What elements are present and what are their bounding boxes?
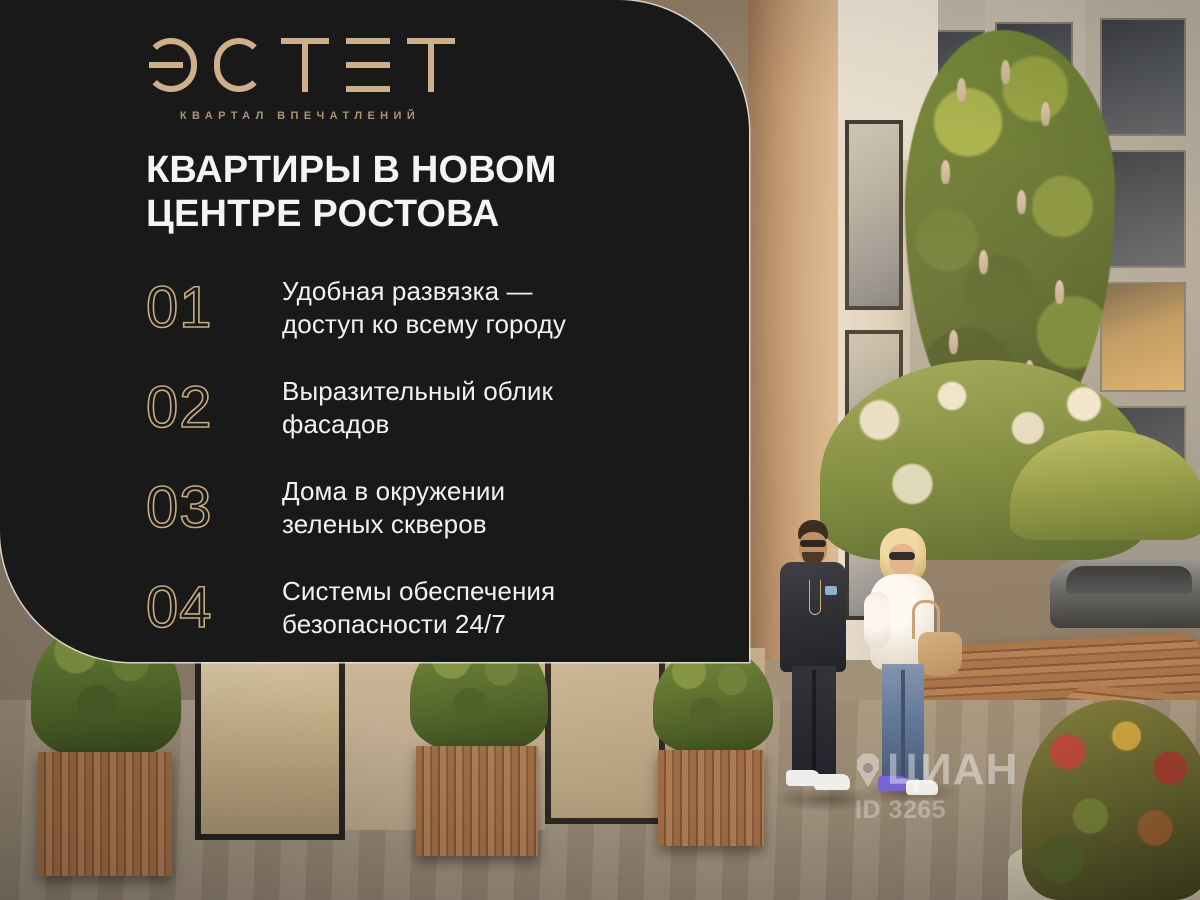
feature-text-line-1: Выразительный облик [282, 375, 553, 408]
woman-sleeve [864, 592, 890, 648]
storefront-glazing [545, 648, 665, 824]
logo-letter-t [281, 38, 329, 92]
window-tall [845, 120, 903, 310]
logo-letter-t-2 [407, 38, 455, 92]
pocket-square [825, 586, 837, 595]
man-jacket [780, 562, 846, 672]
woman-sneaker [906, 780, 938, 795]
planter-box [26, 636, 186, 876]
woman-sneaker [878, 776, 908, 791]
window [1100, 18, 1186, 136]
blossom [1017, 190, 1026, 214]
brand-tagline: КВАРТАЛ ВПЕЧАТЛЕНИЙ [0, 110, 600, 122]
leg-gap [812, 670, 816, 774]
feature-number: 04 [146, 579, 282, 637]
blossom [957, 78, 966, 102]
blossom [949, 330, 958, 354]
feature-text-line-2: фасадов [282, 408, 553, 441]
person-man [778, 520, 850, 806]
topiary-bush [653, 646, 773, 754]
feature-text-line-1: Удобная развязка — [282, 275, 566, 308]
sunglasses-icon [889, 552, 915, 560]
feature-text: Удобная развязка — доступ ко всему город… [282, 275, 566, 342]
logo-letter-e [346, 38, 390, 92]
page-title: КВАРТИРЫ В НОВОМ ЦЕНТРЕ РОСТОВА [146, 148, 706, 237]
handbag [918, 632, 962, 676]
sunglasses-icon [800, 540, 826, 547]
list-item: 04 Системы обеспечения безопасности 24/7 [146, 558, 726, 658]
blossom [1001, 60, 1010, 84]
planter-wood-box [416, 746, 538, 856]
feature-text-line-2: доступ ко всему городу [282, 308, 566, 341]
planter-box [648, 656, 778, 846]
list-item: 03 Дома в окружении зеленых скверов [146, 458, 726, 558]
feature-text-line-1: Системы обеспечения [282, 575, 555, 608]
feature-text: Системы обеспечения безопасности 24/7 [282, 575, 555, 642]
feature-text-line-2: зеленых скверов [282, 508, 505, 541]
planter-wood-box [38, 752, 172, 876]
planter-box [404, 646, 554, 856]
feature-text: Дома в окружении зеленых скверов [282, 475, 505, 542]
storefront-glazing [195, 648, 345, 840]
necklace [809, 580, 821, 615]
blossom [941, 160, 950, 184]
person-woman [866, 528, 942, 808]
headline-line-1: КВАРТИРЫ В НОВОМ [146, 148, 706, 192]
logo-letter-e-reversed [145, 38, 197, 92]
window-lit [1100, 282, 1186, 392]
headline-line-2: ЦЕНТРЕ РОСТОВА [146, 192, 706, 236]
advertisement-banner: ЦИАН ID 3265 [0, 0, 1200, 900]
feature-list: 01 Удобная развязка — доступ ко всему го… [146, 258, 726, 658]
blossom [979, 250, 988, 274]
list-item: 02 Выразительный облик фасадов [146, 358, 726, 458]
man-sneaker [814, 774, 850, 790]
logo-letter-s [214, 38, 264, 92]
planter-wood-box [658, 750, 764, 846]
feature-number: 02 [146, 379, 282, 437]
leg-gap [901, 670, 905, 782]
feature-text-line-1: Дома в окружении [282, 475, 505, 508]
blossom [1041, 102, 1050, 126]
feature-text-line-2: безопасности 24/7 [282, 608, 555, 641]
feature-text: Выразительный облик фасадов [282, 375, 553, 442]
car-window [1066, 566, 1192, 594]
feature-number: 03 [146, 479, 282, 537]
feature-number: 01 [146, 279, 282, 337]
blossom [1055, 280, 1064, 304]
list-item: 01 Удобная развязка — доступ ко всему го… [146, 258, 726, 358]
brand-logo: КВАРТАЛ ВПЕЧАТЛЕНИЙ [0, 36, 600, 122]
info-panel: КВАРТАЛ ВПЕЧАТЛЕНИЙ КВАРТИРЫ В НОВОМ ЦЕН… [0, 0, 749, 662]
logo-wordmark [0, 36, 600, 94]
